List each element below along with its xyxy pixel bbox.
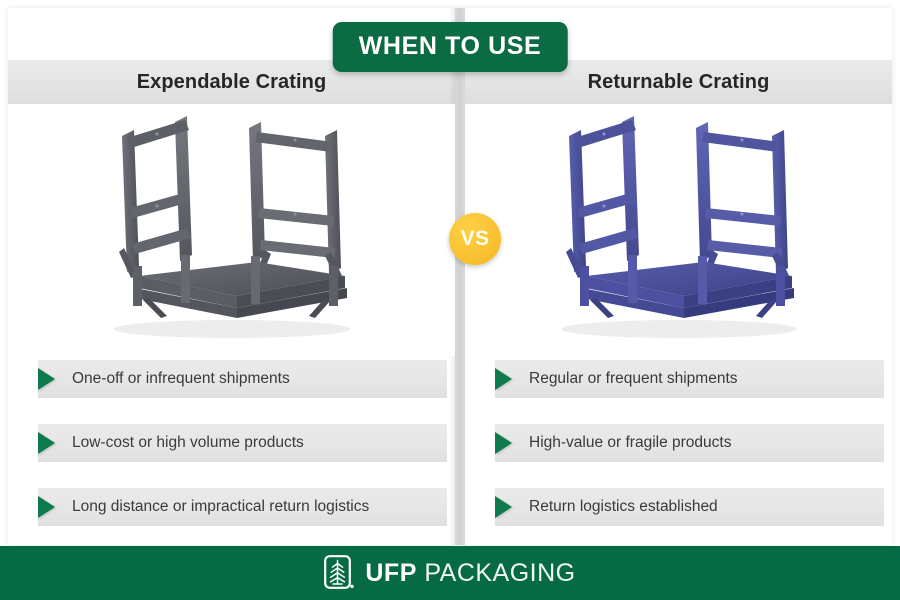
footer-bar: UFP PACKAGING (0, 546, 900, 600)
bullet-list-returnable: Regular or frequent shipments High-value… (465, 360, 892, 545)
stack-rack-image-blue (544, 116, 814, 344)
image-zone-expendable (8, 104, 455, 356)
triangle-bullet-icon (38, 368, 55, 390)
ufp-tree-icon (324, 555, 354, 592)
list-item: Return logistics established (465, 488, 892, 526)
list-item-label: Low-cost or high volume products (72, 434, 304, 452)
list-item-label: One-off or infrequent shipments (72, 370, 290, 388)
triangle-bullet-icon (38, 432, 55, 454)
comparison-card: Expendable Crating Returnable Crating WH… (8, 8, 892, 545)
stack-rack-image-gray (97, 116, 367, 344)
triangle-bullet-icon (495, 432, 512, 454)
triangle-bullet-icon (495, 496, 512, 518)
bullet-list-expendable: One-off or infrequent shipments Low-cost… (8, 360, 455, 545)
logo-ufp: UFP (365, 559, 417, 587)
list-item-label: High-value or fragile products (529, 434, 731, 452)
list-item: Regular or frequent shipments (465, 360, 892, 398)
list-item-label: Regular or frequent shipments (529, 370, 738, 388)
list-item-label: Return logistics established (529, 498, 718, 516)
logo-packaging: PACKAGING (417, 559, 576, 587)
list-item: One-off or infrequent shipments (8, 360, 455, 398)
triangle-bullet-icon (38, 496, 55, 518)
when-to-use-banner: WHEN TO USE (333, 22, 568, 72)
panel-divider (455, 8, 465, 545)
list-item: Long distance or impractical return logi… (8, 488, 455, 526)
list-item-label: Long distance or impractical return logi… (72, 498, 369, 516)
list-item: Low-cost or high volume products (8, 424, 455, 462)
infographic-page: Expendable Crating Returnable Crating WH… (0, 0, 900, 600)
ufp-packaging-logo: UFP PACKAGING (324, 555, 575, 592)
vs-badge: VS (449, 213, 501, 265)
list-item: High-value or fragile products (465, 424, 892, 462)
logo-wordmark: UFP PACKAGING (365, 559, 575, 588)
triangle-bullet-icon (495, 368, 512, 390)
image-zone-returnable (465, 104, 892, 356)
